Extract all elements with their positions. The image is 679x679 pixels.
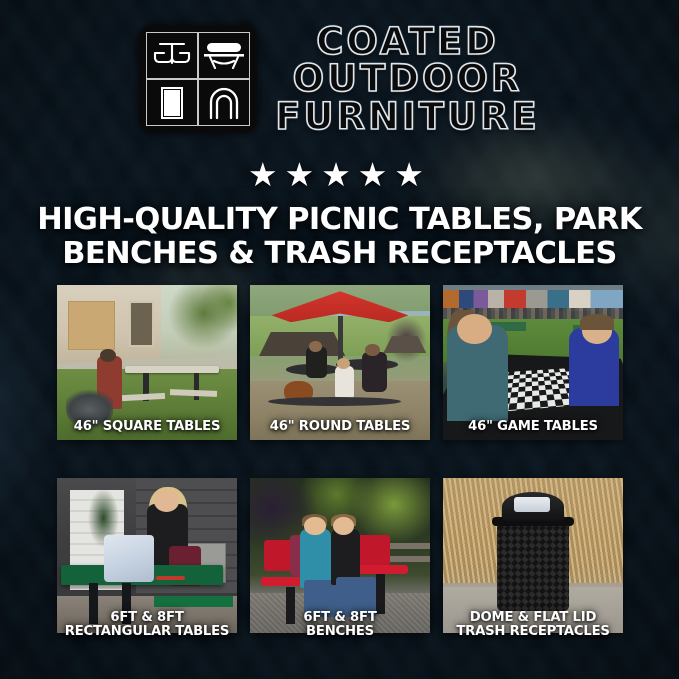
brand-name-line-2: OUTDOOR [293,61,523,97]
trash-receptacle-icon [146,79,198,126]
page-title: HIGH-QUALITY PICNIC TABLES, PARK BENCHES… [26,203,653,271]
bench-icon [198,32,250,79]
brand-name-line-3: FURNITURE [275,99,540,135]
product-tile-game-tables[interactable]: 46" GAME TABLES [443,285,623,440]
product-tile-rectangular-tables[interactable]: 6FT & 8FT RECTANGULAR TABLES [57,478,237,633]
product-tile-grid: 46" SQUARE TABLES [57,285,622,633]
square-tables-photo [57,285,237,440]
brand-name-line-1: COATED [316,24,499,60]
product-tile-round-tables[interactable]: 46" ROUND TABLES [250,285,430,440]
product-tile-benches[interactable]: 6FT & 8FT BENCHES [250,478,430,633]
trash-receptacles-photo [443,478,623,633]
product-tile-square-tables[interactable]: 46" SQUARE TABLES [57,285,237,440]
arch-bike-rack-icon [198,79,250,126]
logo-icon-grid [139,25,257,133]
poster-canvas: COATED OUTDOOR FURNITURE ★★★★★ HIGH-QUAL… [0,0,679,679]
product-tile-trash-receptacles[interactable]: DOME & FLAT LID TRASH RECEPTACLES [443,478,623,633]
headline-line-1: HIGH-QUALITY PICNIC TABLES, PARK [26,203,653,237]
rectangular-tables-photo [57,478,237,633]
game-tables-photo [443,285,623,440]
headline-line-2: BENCHES & TRASH RECEPTACLES [26,237,653,271]
round-tables-photo [250,285,430,440]
poster-content: COATED OUTDOOR FURNITURE ★★★★★ HIGH-QUAL… [0,0,679,679]
brand-name: COATED OUTDOOR FURNITURE [275,24,540,135]
benches-photo [250,478,430,633]
star-rating: ★★★★★ [0,158,679,191]
brand-logo: COATED OUTDOOR FURNITURE [0,24,679,135]
picnic-table-icon [146,32,198,79]
